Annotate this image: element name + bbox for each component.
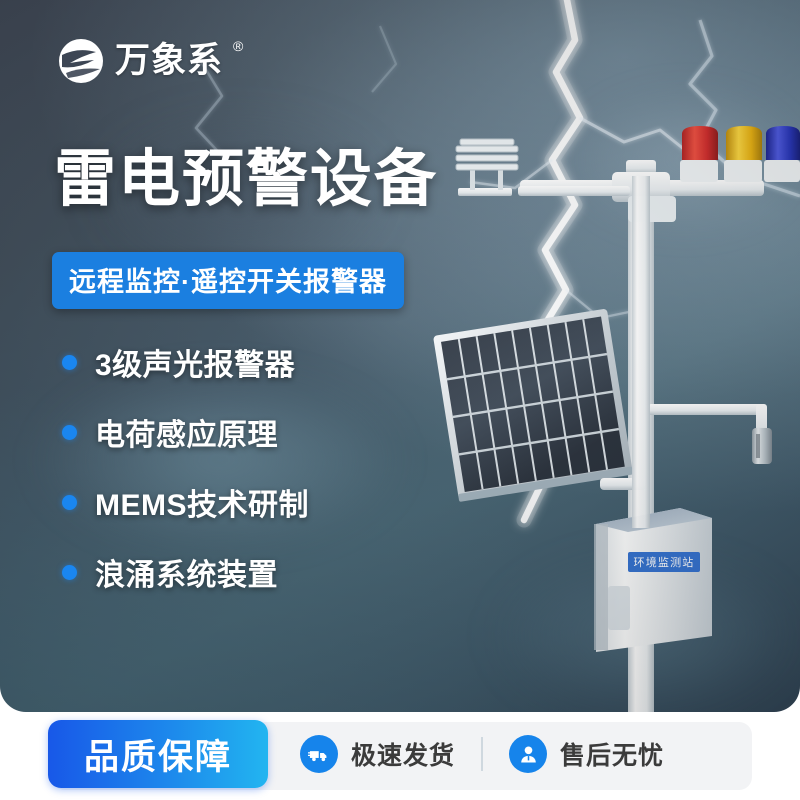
cloud-layer-upper-right (520, 60, 800, 260)
subtitle-banner-label: 远程监控·遥控开关报警器 (69, 267, 387, 297)
list-item: 3级声光报警器 (62, 340, 309, 384)
list-item: 电荷感应原理 (62, 410, 309, 454)
divider (481, 737, 483, 771)
feature-label: 电荷感应原理 (95, 410, 278, 454)
trust-item-label: 极速发货 (351, 736, 455, 772)
cloud-layer-lower-right (430, 520, 800, 712)
trust-bar: 品质保障 极速发货 (0, 712, 800, 800)
feature-label: MEMS技术研制 (95, 480, 309, 524)
trust-item-label: 售后无忧 (560, 736, 664, 772)
globe-swoosh-logo-icon (56, 36, 106, 86)
blue-dot-icon (62, 565, 77, 580)
trust-item-aftersales: 售后无忧 (509, 735, 664, 773)
promo-poster: 环境监测站 万象系 ® 雷电预警设备 远程监控·遥控开关报警器 3级声光报警器 … (0, 0, 800, 800)
feature-list: 3级声光报警器 电荷感应原理 MEMS技术研制 浪涌系统装置 (62, 340, 309, 594)
list-item: MEMS技术研制 (62, 480, 309, 524)
brand-name: 万象系 (115, 36, 223, 86)
customer-service-icon (509, 735, 547, 773)
feature-label: 浪涌系统装置 (95, 550, 278, 594)
blue-dot-icon (62, 495, 77, 510)
feature-label: 3级声光报警器 (95, 340, 295, 384)
list-item: 浪涌系统装置 (62, 550, 309, 594)
svg-text:环境监测站: 环境监测站 (634, 555, 695, 569)
quality-badge-label: 品质保障 (84, 729, 232, 780)
brand-logo: 万象系 ® (56, 36, 243, 86)
subtitle-banner: 远程监控·遥控开关报警器 (52, 252, 404, 309)
trust-item-shipping: 极速发货 (300, 735, 455, 773)
registered-mark: ® (233, 36, 243, 56)
blue-dot-icon (62, 355, 77, 370)
trust-items: 极速发货 售后无忧 (300, 720, 664, 788)
blue-dot-icon (62, 425, 77, 440)
quality-badge: 品质保障 (48, 720, 268, 788)
delivery-truck-icon (300, 735, 338, 773)
page-title: 雷电预警设备 (54, 147, 438, 214)
